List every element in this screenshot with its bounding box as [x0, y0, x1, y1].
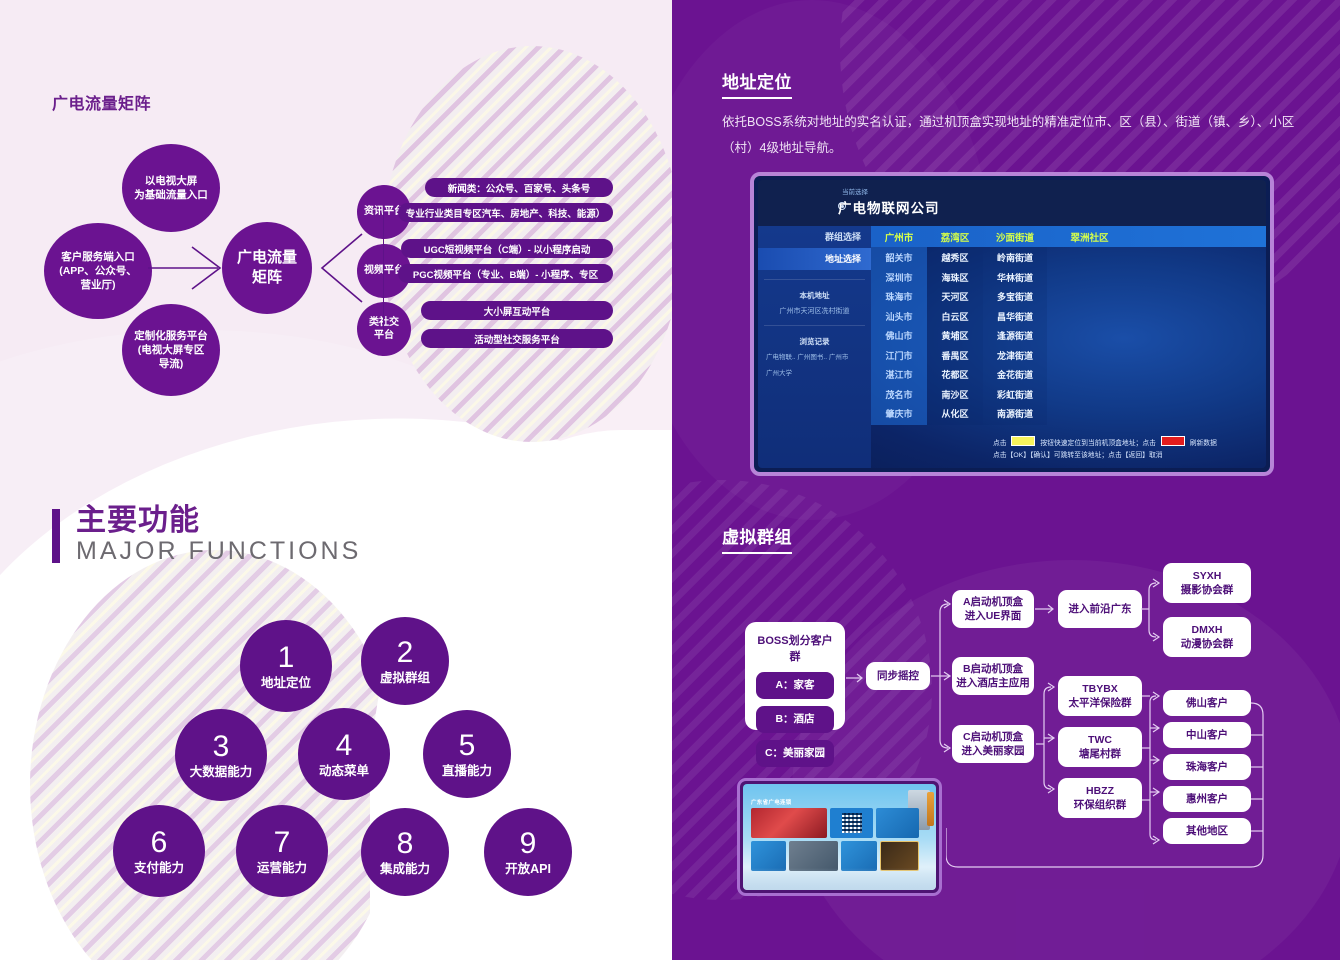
major-functions-title-en: MAJOR FUNCTIONS: [76, 537, 361, 566]
tv-preview-tile-ad[interactable]: [880, 841, 919, 871]
tv-local-address-value: 广州市天河区冼村街道: [758, 306, 871, 316]
tv-cell[interactable]: 南沙区: [927, 386, 983, 406]
tv-preview-tile-health[interactable]: [876, 808, 919, 838]
tv-cell[interactable]: 肇庆市: [871, 405, 927, 425]
function-circle-6[interactable]: 6 支付能力: [113, 805, 205, 897]
tv-history-item-1[interactable]: 广州大学: [758, 368, 871, 379]
boss-group-item-a[interactable]: A：家客: [756, 672, 834, 699]
function-9-label: 开放API: [505, 863, 551, 876]
poster-page: 广电流量矩阵 以电视大屏 为基础流量入口 客户服务端入口 (APP、公众号、 营…: [0, 0, 1340, 960]
function-6-number: 6: [151, 828, 168, 858]
function-circle-1[interactable]: 1 地址定位: [240, 620, 332, 712]
tv-preview-tile-qr[interactable]: [830, 808, 873, 838]
tv-preview-tile-recommend[interactable]: [751, 841, 786, 871]
red-button-swatch: [1161, 436, 1185, 446]
heading-accent-bar: [52, 509, 60, 563]
tv-preview-tiles: [751, 808, 919, 874]
node-center-matrix: 广电流量 矩阵: [222, 222, 312, 314]
node-customer-entry-line1: 客户服务端入口: [61, 251, 135, 263]
boss-group-item-c[interactable]: C：美丽家园: [756, 740, 834, 767]
branch-node-2-label2: 平台: [374, 330, 394, 341]
tv-legend-line-2: 点击【OK】【确认】可跳转至该地址；点击【返回】取消: [993, 450, 1217, 463]
tv-legend-text-b: 按钮快速定位到当前机顶盒地址；点击: [1040, 440, 1156, 447]
function-circle-7[interactable]: 7 运营能力: [236, 805, 328, 897]
tv-sidebar: 群组选择 地址选择 本机地址 广州市天河区冼村街道 浏览记录 广电物联.. 广州…: [758, 226, 871, 468]
tv-legend-line-1: 点击 按钮快速定位到当前机顶盒地址；点击 刷新数据: [993, 436, 1217, 451]
node-customer-entry-line2: (APP、公众号、: [59, 265, 137, 277]
function-circle-2[interactable]: 2 虚拟群组: [361, 617, 449, 705]
tv-company-name: 广电物联网公司: [838, 197, 940, 217]
function-2-number: 2: [397, 638, 414, 668]
function-4-label: 动态菜单: [319, 765, 369, 778]
address-section-description: 依托BOSS系统对地址的实名认证，通过机顶盒实现地址的精准定位市、区（县）、街道…: [722, 110, 1322, 161]
tv-column-cities[interactable]: 韶关市 深圳市 珠海市 汕头市 佛山市 江门市 湛江市 茂名市 肇庆市: [871, 247, 927, 425]
launch-box-a: A启动机顶盒 进入UE界面: [952, 590, 1034, 628]
tv-sidebar-divider-2: [764, 325, 865, 326]
hbzz-code: HBZZ: [1086, 785, 1114, 797]
tv-cell[interactable]: 白云区: [927, 308, 983, 328]
launch-b-line2: 进入酒店主应用: [956, 677, 1030, 689]
tv-cell[interactable]: 越秀区: [927, 249, 983, 269]
customer-box-2: 珠海客户: [1163, 754, 1251, 780]
community-box-hbzz: HBZZ 环保组织群: [1058, 778, 1142, 818]
function-8-label: 集成能力: [380, 863, 430, 876]
address-section-title: 地址定位: [722, 68, 792, 99]
launch-b-line1: B启动机顶盒: [963, 663, 1023, 675]
function-5-label: 直播能力: [442, 765, 492, 778]
tv-cell[interactable]: 汕头市: [871, 308, 927, 328]
tv-column-header-district[interactable]: 荔湾区: [927, 230, 983, 244]
tv-history-item-0[interactable]: 广电物联.. 广州图书.. 广州市: [758, 352, 871, 363]
function-circle-8[interactable]: 8 集成能力: [361, 808, 449, 896]
node-tv-entry: 以电视大屏 为基础流量入口: [122, 144, 220, 232]
function-1-label: 地址定位: [261, 677, 311, 690]
dmxh-code: DMXH: [1192, 624, 1223, 636]
function-3-label: 大数据能力: [190, 766, 253, 779]
tv-sidebar-divider-1: [764, 279, 865, 280]
tv-column-header-street[interactable]: 沙面街道: [983, 230, 1047, 244]
tv-preview-tile-news[interactable]: [841, 841, 876, 871]
node-tv-entry-line2: 为基础流量入口: [134, 189, 208, 201]
boss-group-item-b[interactable]: B：酒店: [756, 706, 834, 733]
function-9-number: 9: [520, 829, 537, 859]
customer-box-0: 佛山客户: [1163, 690, 1251, 716]
tv-column-streets[interactable]: 岭南街道 华林街道 多宝街道 昌华街道 逢源街道 龙津街道 金花街道 彩虹街道 …: [983, 247, 1047, 425]
function-circle-5[interactable]: 5 直播能力: [423, 710, 511, 798]
tv-cell[interactable]: 从化区: [927, 405, 983, 425]
tv-cell[interactable]: 珠海市: [871, 288, 927, 308]
community-box-twc: TWC 塘尾村群: [1058, 727, 1142, 767]
left-panel: 广电流量矩阵 以电视大屏 为基础流量入口 客户服务端入口 (APP、公众号、 营…: [0, 0, 672, 960]
tv-cell[interactable]: 昌华街道: [983, 308, 1047, 328]
major-functions-heading: 主要功能 MAJOR FUNCTIONS: [52, 505, 361, 565]
node-custom-service-line2: (电视大屏专区: [138, 344, 205, 356]
tv-column-header-community[interactable]: 翠洲社区: [1047, 230, 1132, 244]
tv-tab-address-select[interactable]: 地址选择: [758, 248, 871, 270]
tv-column-body: 韶关市 深圳市 珠海市 汕头市 佛山市 江门市 湛江市 茂名市 肇庆市 越秀区: [871, 247, 1266, 425]
tv-local-address-label: 本机地址: [758, 290, 871, 301]
tv-cell[interactable]: 天河区: [927, 288, 983, 308]
syxh-code: SYXH: [1193, 570, 1222, 582]
matrix-section-title: 广电流量矩阵: [52, 90, 151, 114]
twc-code: TWC: [1088, 734, 1112, 746]
launch-c-line2: 进入美丽家园: [962, 745, 1025, 757]
sync-box: 同步摇控: [866, 662, 930, 690]
syxh-name: 摄影协会群: [1181, 584, 1234, 596]
tv-cell[interactable]: 岭南街道: [983, 249, 1047, 269]
customer-box-3: 惠州客户: [1163, 786, 1251, 812]
major-functions-title-cn: 主要功能: [76, 505, 361, 537]
qr-code-icon: [842, 813, 862, 833]
tv-cell[interactable]: 逢源街道: [983, 327, 1047, 347]
tv-cell[interactable]: 金花街道: [983, 366, 1047, 386]
tv-current-select-label: 当前选择: [842, 186, 868, 196]
forward-box: 进入前沿广东: [1058, 590, 1142, 628]
customer-box-4: 其他地区: [1163, 818, 1251, 844]
tv-preview-row-1: [751, 808, 919, 838]
association-box-dmxh: DMXH 动漫协会群: [1163, 617, 1251, 657]
tv-cell[interactable]: 湛江市: [871, 366, 927, 386]
groups-section-title: 虚拟群组: [722, 523, 792, 554]
groups-tv-preview: 广东省广电连锁: [737, 778, 942, 896]
tv-cell[interactable]: 江门市: [871, 347, 927, 367]
tv-cell[interactable]: 番禺区: [927, 347, 983, 367]
customer-box-1: 中山客户: [1163, 722, 1251, 748]
tv-cell[interactable]: 彩虹街道: [983, 386, 1047, 406]
tv-address-columns: 广州市 荔湾区 沙面街道 翠洲社区 韶关市 深圳市 珠海市 汕头市 佛山市 江门…: [871, 226, 1266, 468]
function-7-label: 运营能力: [257, 862, 307, 875]
branch-1-item-1: PGC视频平台（专业、B端）- 小程序、专区: [398, 264, 613, 283]
tv-preview-sidebar-strip: [927, 792, 934, 826]
tv-tab-group-select[interactable]: 群组选择: [758, 226, 871, 248]
tv-preview-tile-map[interactable]: [789, 841, 838, 871]
tv-cell[interactable]: 龙津街道: [983, 347, 1047, 367]
function-circle-3[interactable]: 3 大数据能力: [175, 709, 267, 801]
tv-cell[interactable]: 黄埔区: [927, 327, 983, 347]
function-circle-4[interactable]: 4 动态菜单: [298, 708, 390, 800]
node-customer-entry-line3: 营业厅): [81, 279, 116, 291]
node-custom-service-line3: 导流): [159, 358, 184, 370]
address-tv-mockup: 当前选择 广电物联网公司 群组选择 地址选择 本机地址 广州市天河区冼村街道 浏…: [750, 172, 1274, 476]
tv-legend-text-a: 点击: [993, 440, 1007, 447]
tv-header: 当前选择 广电物联网公司: [758, 180, 1266, 226]
tv-legend-text-c: 刷新数据: [1190, 440, 1217, 447]
tv-preview-tile-video[interactable]: [751, 808, 827, 838]
branch-spine: [383, 212, 384, 330]
function-8-number: 8: [397, 829, 414, 859]
launch-a-line1: A启动机顶盒: [963, 596, 1023, 608]
tv-column-districts[interactable]: 越秀区 海珠区 天河区 白云区 黄埔区 番禺区 花都区 南沙区 从化区: [927, 247, 983, 425]
node-tv-entry-line1: 以电视大屏: [145, 175, 198, 187]
twc-name: 塘尾村群: [1079, 748, 1121, 760]
launch-box-b: B启动机顶盒 进入酒店主应用: [952, 657, 1034, 695]
tv-preview-row-2: [751, 841, 919, 871]
tbybx-name: 太平洋保险群: [1069, 697, 1132, 709]
branch-2-item-1: 活动型社交服务平台: [421, 329, 613, 348]
tv-cell[interactable]: 南源街道: [983, 405, 1047, 425]
tv-preview-title: 广东省广电连锁: [751, 798, 792, 806]
association-box-syxh: SYXH 摄影协会群: [1163, 563, 1251, 603]
tv-cell[interactable]: 深圳市: [871, 269, 927, 289]
branch-1-item-0: UGC短视频平台（C端）- 以小程序启动: [401, 239, 613, 258]
tv-cell[interactable]: 佛山市: [871, 327, 927, 347]
hbzz-name: 环保组织群: [1074, 799, 1127, 811]
function-6-label: 支付能力: [134, 862, 184, 875]
tv-cell[interactable]: 海珠区: [927, 269, 983, 289]
function-1-number: 1: [278, 643, 295, 673]
tbybx-code: TBYBX: [1082, 683, 1118, 695]
tv-column-headers: 广州市 荔湾区 沙面街道 翠洲社区: [871, 226, 1266, 247]
launch-a-line2: 进入UE界面: [965, 610, 1022, 622]
launch-box-c: C启动机顶盒 进入美丽家园: [952, 725, 1034, 763]
function-5-number: 5: [459, 731, 476, 761]
tv-cell[interactable]: 韶关市: [871, 249, 927, 269]
tv-cell[interactable]: 多宝街道: [983, 288, 1047, 308]
function-4-number: 4: [336, 731, 353, 761]
function-2-label: 虚拟群组: [380, 672, 430, 685]
tv-cell[interactable]: 茂名市: [871, 386, 927, 406]
launch-c-line1: C启动机顶盒: [963, 731, 1023, 743]
tv-history-label: 浏览记录: [758, 336, 871, 347]
branch-0-item-0: 新闻类：公众号、百家号、头条号: [425, 178, 613, 197]
node-center-line2: 矩阵: [252, 269, 282, 286]
boss-group-box: BOSS划分客户群 A：家客 B：酒店 C：美丽家园: [745, 622, 845, 730]
tv-body: 群组选择 地址选择 本机地址 广州市天河区冼村街道 浏览记录 广电物联.. 广州…: [758, 226, 1266, 468]
tv-legend: 点击 按钮快速定位到当前机顶盒地址；点击 刷新数据 点击【OK】【确认】可跳转至…: [993, 436, 1217, 463]
function-7-number: 7: [274, 828, 291, 858]
boss-group-title: BOSS划分客户群: [756, 632, 834, 664]
tv-preview-skyline: [743, 868, 936, 890]
node-custom-service: 定制化服务平台 (电视大屏专区 导流): [122, 304, 220, 396]
function-circle-9[interactable]: 9 开放API: [484, 808, 572, 896]
tv-screen: 当前选择 广电物联网公司 群组选择 地址选择 本机地址 广州市天河区冼村街道 浏…: [758, 180, 1266, 468]
function-3-number: 3: [213, 732, 230, 762]
tv-cell[interactable]: 华林街道: [983, 269, 1047, 289]
community-box-tbybx: TBYBX 太平洋保险群: [1058, 676, 1142, 716]
branch-2-item-0: 大小屏互动平台: [421, 301, 613, 320]
dmxh-name: 动漫协会群: [1181, 638, 1234, 650]
node-center-line1: 广电流量: [237, 249, 297, 266]
yellow-button-swatch: [1011, 436, 1035, 446]
tv-preview-screen: 广东省广电连锁: [743, 784, 936, 890]
node-custom-service-line1: 定制化服务平台: [134, 330, 208, 342]
branch-0-item-1: 专业行业类目专区汽车、房地产、科技、能源）: [398, 203, 613, 222]
node-customer-entry: 客户服务端入口 (APP、公众号、 营业厅): [44, 223, 152, 319]
tv-column-header-city[interactable]: 广州市: [871, 230, 927, 244]
tv-cell[interactable]: 花都区: [927, 366, 983, 386]
